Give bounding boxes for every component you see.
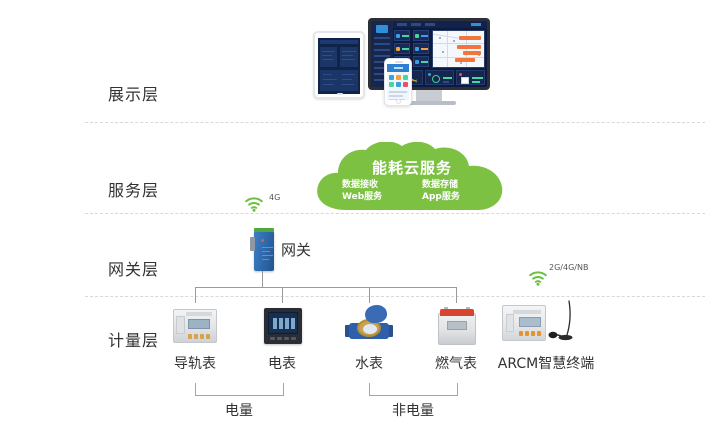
connector-to-rail-meter xyxy=(195,287,196,303)
electric-meter-display xyxy=(268,312,298,334)
dashboard-topbar xyxy=(393,21,487,28)
arcm-terminal-clip xyxy=(506,314,514,332)
wifi-icon xyxy=(528,270,548,286)
arcm-terminal-label: ARCM智慧终端 xyxy=(481,353,611,373)
terminal-uplink-tag: 2G/4G/NB xyxy=(549,263,588,272)
cloud-service-app: App服务 xyxy=(422,191,460,203)
rail-meter-display xyxy=(188,319,210,329)
rail-meter-label: 导轨表 xyxy=(150,353,240,373)
layer-label-presentation: 展示层 xyxy=(108,81,194,105)
arcm-terminal-body xyxy=(502,305,546,341)
gateway-label: 网关 xyxy=(281,239,311,260)
gateway-body xyxy=(254,231,274,271)
cloud-service-block: 能耗云服务 数据接收 Web服务 数据存储 App服务 xyxy=(312,143,512,211)
gas-meter-display xyxy=(447,321,467,330)
cloud-service-web: Web服务 xyxy=(342,191,382,203)
cloud-title: 能耗云服务 xyxy=(312,157,512,178)
electric-meter xyxy=(254,305,310,349)
rail-meter-body xyxy=(173,309,217,343)
water-meter-body xyxy=(345,305,393,345)
phone-device xyxy=(384,58,412,106)
water-meter xyxy=(341,303,397,347)
cloud-service-data-receive: 数据接收 xyxy=(342,179,382,191)
layer-divider-presentation xyxy=(85,122,705,123)
water-meter-lid xyxy=(364,304,388,325)
phone-screen xyxy=(387,64,409,100)
bracket-non-electric-label: 非电量 xyxy=(368,400,458,420)
phone-speaker xyxy=(395,61,403,63)
layer-label-service: 服务层 xyxy=(108,177,194,201)
rail-meter xyxy=(167,305,223,349)
electric-meter-body xyxy=(264,308,302,344)
gateway-port xyxy=(250,237,255,251)
gas-meter-body xyxy=(438,307,476,345)
connector-to-water-meter xyxy=(369,287,370,303)
rail-meter-clip xyxy=(176,316,185,334)
arcm-terminal-device xyxy=(500,303,552,345)
gateway-device xyxy=(250,227,276,271)
dashboard-logo xyxy=(376,25,388,33)
electric-meter-buttons xyxy=(270,337,296,340)
layer-divider-gateway xyxy=(85,296,705,297)
gateway-uplink-tag: 4G xyxy=(269,193,280,202)
gas-meter xyxy=(428,304,484,348)
water-meter-label: 水表 xyxy=(324,353,414,373)
connector-to-gas-meter xyxy=(456,287,457,303)
architecture-diagram: 展示层 服务层 网关层 计量层 xyxy=(0,0,715,443)
gateway-top-connector xyxy=(254,228,274,232)
gas-meter-top-cap xyxy=(440,309,474,316)
tablet-screen xyxy=(318,38,360,94)
phone-home-button xyxy=(396,99,401,104)
gateway-led xyxy=(261,239,264,242)
antenna-icon xyxy=(548,299,574,345)
wifi-icon xyxy=(244,196,264,212)
tablet-device xyxy=(313,31,365,99)
bracket-non-electric xyxy=(369,383,458,396)
electric-meter-label: 电表 xyxy=(237,353,327,373)
connector-gateway-stem xyxy=(262,271,263,287)
tablet-home-button xyxy=(337,93,343,95)
connector-to-electric-meter xyxy=(282,287,283,303)
cloud-right-column: 数据存储 App服务 xyxy=(422,179,460,203)
bracket-electric xyxy=(195,383,284,396)
layer-label-gateway: 网关层 xyxy=(108,256,194,280)
dashboard-map-panel xyxy=(432,30,485,68)
connector-bus xyxy=(195,287,457,288)
cloud-service-data-store: 数据存储 xyxy=(422,179,460,191)
phone-app-header xyxy=(387,64,409,72)
bracket-electric-label: 电量 xyxy=(194,400,284,420)
arcm-terminal-display xyxy=(519,317,541,327)
cloud-left-column: 数据接收 Web服务 xyxy=(342,179,382,203)
